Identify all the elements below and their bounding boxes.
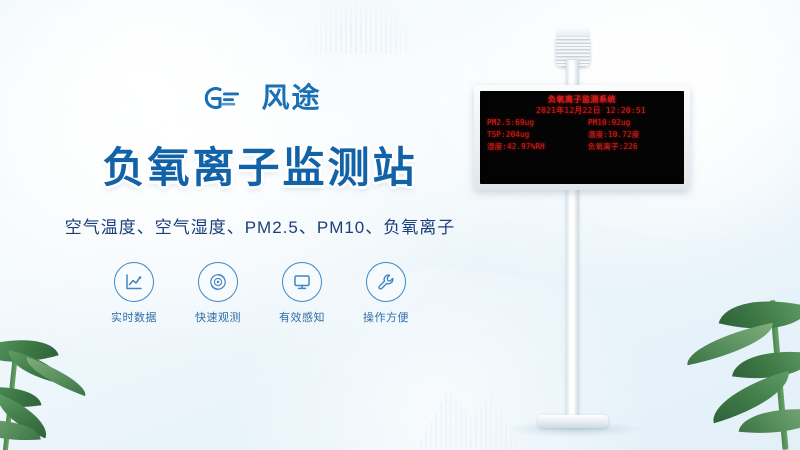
led-reading-pm10: PM10:92ug <box>582 117 677 128</box>
wrench-icon <box>366 262 406 302</box>
led-readings-grid: PM2.5:69ug PM10:92ug TSP:204ug 温度:10.72度… <box>487 117 677 152</box>
wind-logo-icon <box>198 83 252 113</box>
feature-item-easy-operation[interactable]: 操作方便 <box>355 262 417 325</box>
watermark-texture <box>300 0 420 54</box>
brand-name: 风途 <box>261 84 321 112</box>
led-datetime: 2021年12月22日 12:20:51 <box>487 105 677 116</box>
led-reading-negative-ions: 负氧离子:226 <box>582 141 677 152</box>
led-display-panel: 负氧离子监测系统 2021年12月22日 12:20:51 PM2.5:69ug… <box>474 85 690 190</box>
led-reading-tsp: TSP:204ug <box>487 129 582 140</box>
feature-label: 操作方便 <box>355 309 417 325</box>
feature-item-realtime-data[interactable]: 实时数据 <box>103 262 165 325</box>
monitoring-station-illustration: 负氧离子监测系统 2021年12月22日 12:20:51 PM2.5:69ug… <box>430 0 800 450</box>
led-reading-humidity: 湿度:42.97%RH <box>487 141 582 152</box>
led-reading-pm25: PM2.5:69ug <box>487 117 582 128</box>
monitor-icon <box>282 262 322 302</box>
led-title: 负氧离子监测系统 <box>487 94 677 105</box>
led-screen: 负氧离子监测系统 2021年12月22日 12:20:51 PM2.5:69ug… <box>480 91 684 184</box>
leaf <box>21 357 91 396</box>
feature-label: 实时数据 <box>103 309 165 325</box>
station-base-plate <box>538 415 608 428</box>
feature-label: 有效感知 <box>271 309 333 325</box>
feature-label: 快速观测 <box>187 309 249 325</box>
line-chart-icon <box>114 262 154 302</box>
radar-sensor-icon <box>198 262 238 302</box>
feature-item-fast-observation[interactable]: 快速观测 <box>187 262 249 325</box>
led-reading-temperature: 温度:10.72度 <box>582 129 677 140</box>
promo-banner: 风途 负氧离子监测站 空气温度、空气湿度、PM2.5、PM10、负氧离子 实时数… <box>0 0 800 450</box>
feature-item-effective-sensing[interactable]: 有效感知 <box>271 262 333 325</box>
